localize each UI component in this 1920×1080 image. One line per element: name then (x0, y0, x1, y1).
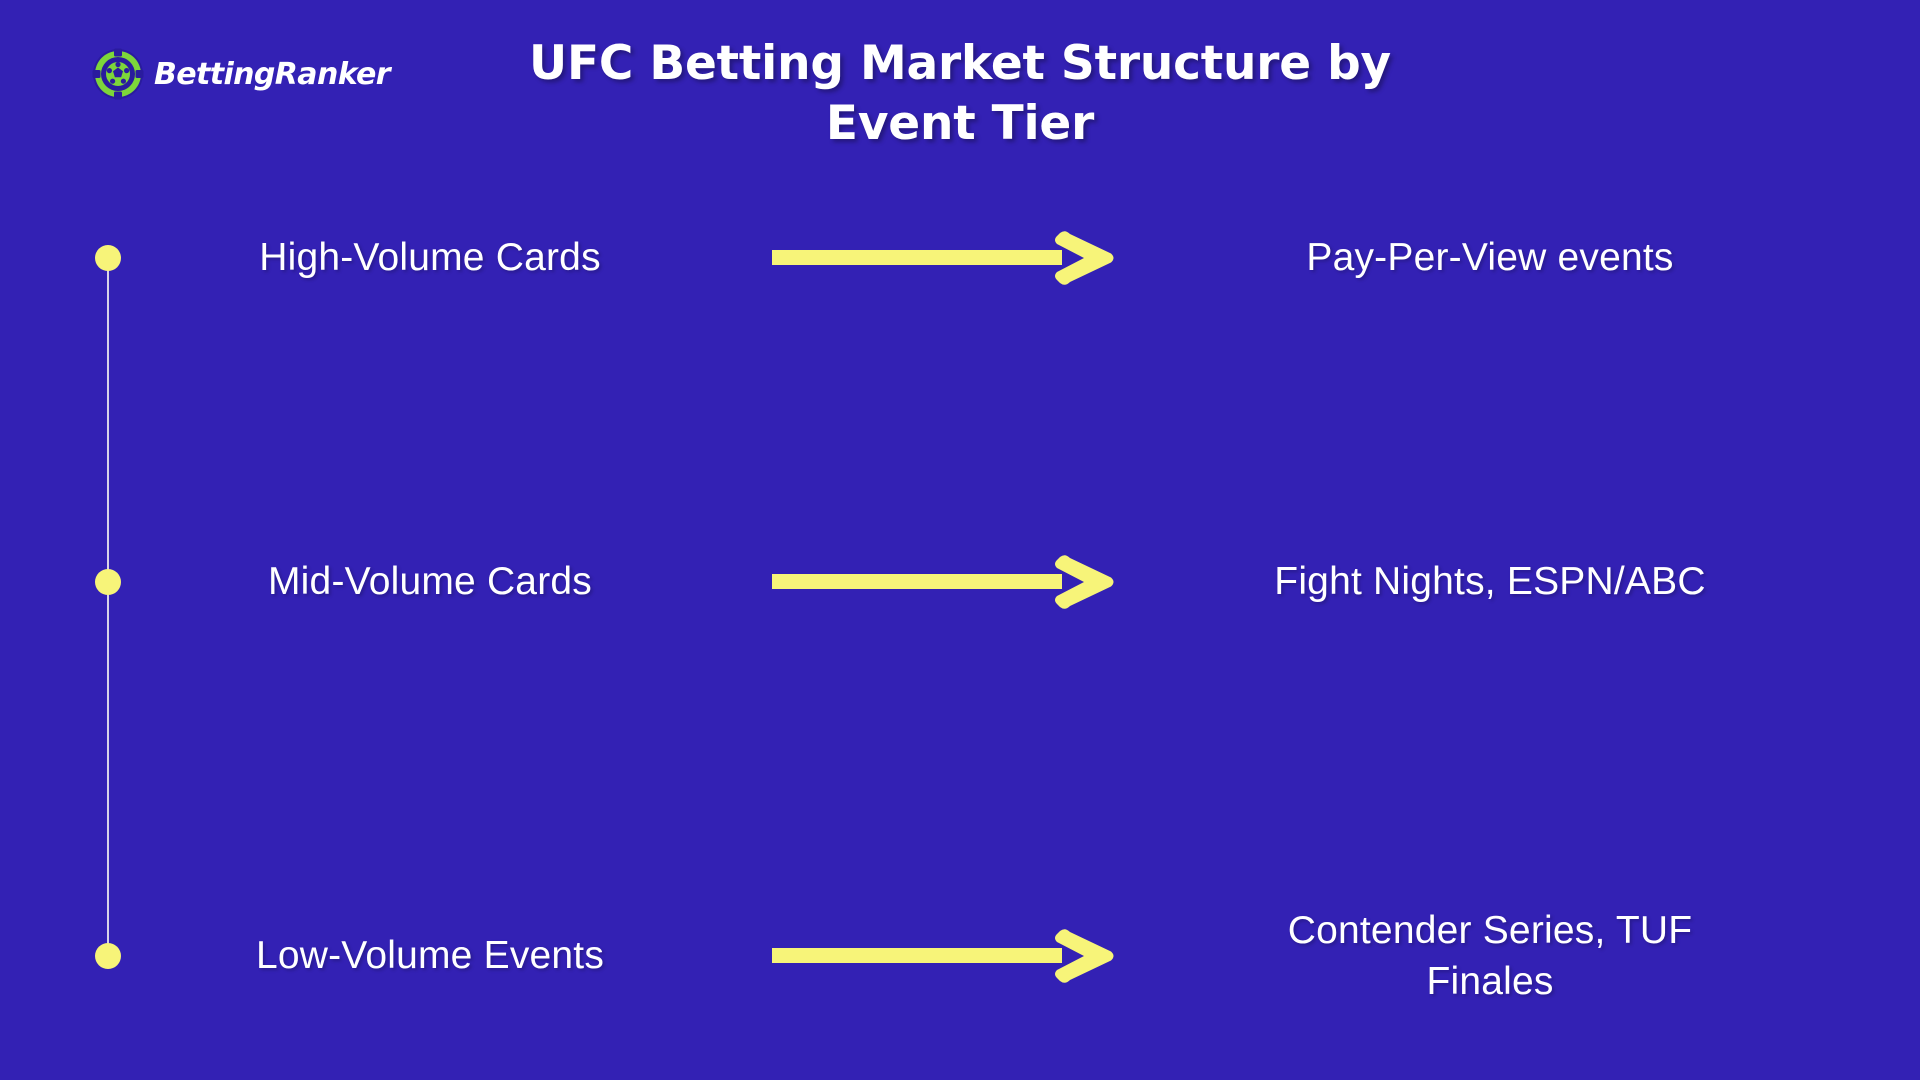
tier-row: Mid-Volume Cards Fight Nights, ESPN/ABC (0, 522, 1920, 642)
brand-logo[interactable]: BettingRanker (92, 48, 390, 100)
right-arrow-icon (772, 552, 1122, 612)
tier-value: Pay-Per-View events (1180, 232, 1800, 283)
tier-value: Contender Series, TUF Finales (1180, 905, 1800, 1008)
tier-label: Low-Volume Events (150, 932, 710, 980)
brand-wordmark-text: BettingRanker (154, 57, 390, 92)
tier-row: Low-Volume Events Contender Series, TUF … (0, 896, 1920, 1016)
brand-wordmark: BettingRanker (154, 60, 390, 90)
tier-label: Mid-Volume Cards (150, 558, 710, 606)
tier-value: Fight Nights, ESPN/ABC (1180, 556, 1800, 607)
right-arrow-icon (772, 926, 1122, 986)
right-arrow-icon (772, 228, 1122, 288)
tier-label: High-Volume Cards (150, 234, 710, 282)
betting-ranker-emblem-icon (92, 48, 144, 100)
tier-row: High-Volume Cards Pay-Per-View events (0, 198, 1920, 318)
page-title: UFC Betting Market Structure by Event Ti… (460, 34, 1460, 154)
